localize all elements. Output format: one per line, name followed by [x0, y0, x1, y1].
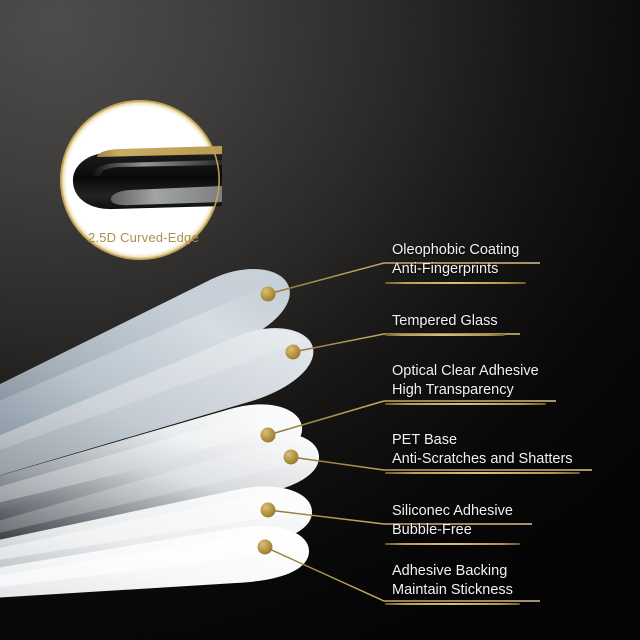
callout-dot-1	[261, 287, 276, 302]
callout-underline-6	[385, 603, 520, 605]
callout-title-3: Optical Clear Adhesive	[392, 362, 539, 381]
callout-underline-2	[385, 334, 505, 336]
callout-title-1: Oleophobic Coating	[392, 241, 519, 260]
callout-title-4: PET Base	[392, 431, 573, 450]
callout-label-4: PET Base Anti-Scratches and Shatters	[392, 431, 573, 469]
callout-underline-5	[385, 543, 520, 545]
callout-label-5: Siliconec Adhesive Bubble-Free	[392, 502, 513, 540]
callout-label-3: Optical Clear Adhesive High Transparency	[392, 362, 539, 400]
leader-line-3	[268, 401, 556, 435]
callout-label-2: Tempered Glass	[392, 312, 498, 331]
callout-dot-3	[261, 428, 276, 443]
callout-label-1: Oleophobic Coating Anti-Fingerprints	[392, 241, 519, 279]
callout-title-2: Tempered Glass	[392, 312, 498, 331]
callout-subtitle-3: High Transparency	[392, 381, 539, 400]
leader-line-2	[293, 334, 520, 352]
callout-title-5: Siliconec Adhesive	[392, 502, 513, 521]
callout-underline-1	[385, 282, 526, 284]
product-infographic: Overall Protection	[0, 0, 640, 640]
callout-title-6: Adhesive Backing	[392, 562, 513, 581]
callout-subtitle-5: Bubble-Free	[392, 521, 513, 540]
callout-dot-6	[258, 540, 273, 555]
callout-subtitle-1: Anti-Fingerprints	[392, 260, 519, 279]
exploded-layer-illustration	[0, 0, 640, 640]
callout-label-6: Adhesive Backing Maintain Stickness	[392, 562, 513, 600]
callout-dot-5	[261, 503, 276, 518]
callout-subtitle-4: Anti-Scratches and Shatters	[392, 450, 573, 469]
callout-dot-2	[286, 345, 301, 360]
callout-underline-3	[385, 403, 546, 405]
inset-caption: 2.5D Curved-Edge	[88, 230, 199, 245]
callout-dot-4	[284, 450, 299, 465]
callout-subtitle-6: Maintain Stickness	[392, 581, 513, 600]
callout-underline-4	[385, 472, 580, 474]
